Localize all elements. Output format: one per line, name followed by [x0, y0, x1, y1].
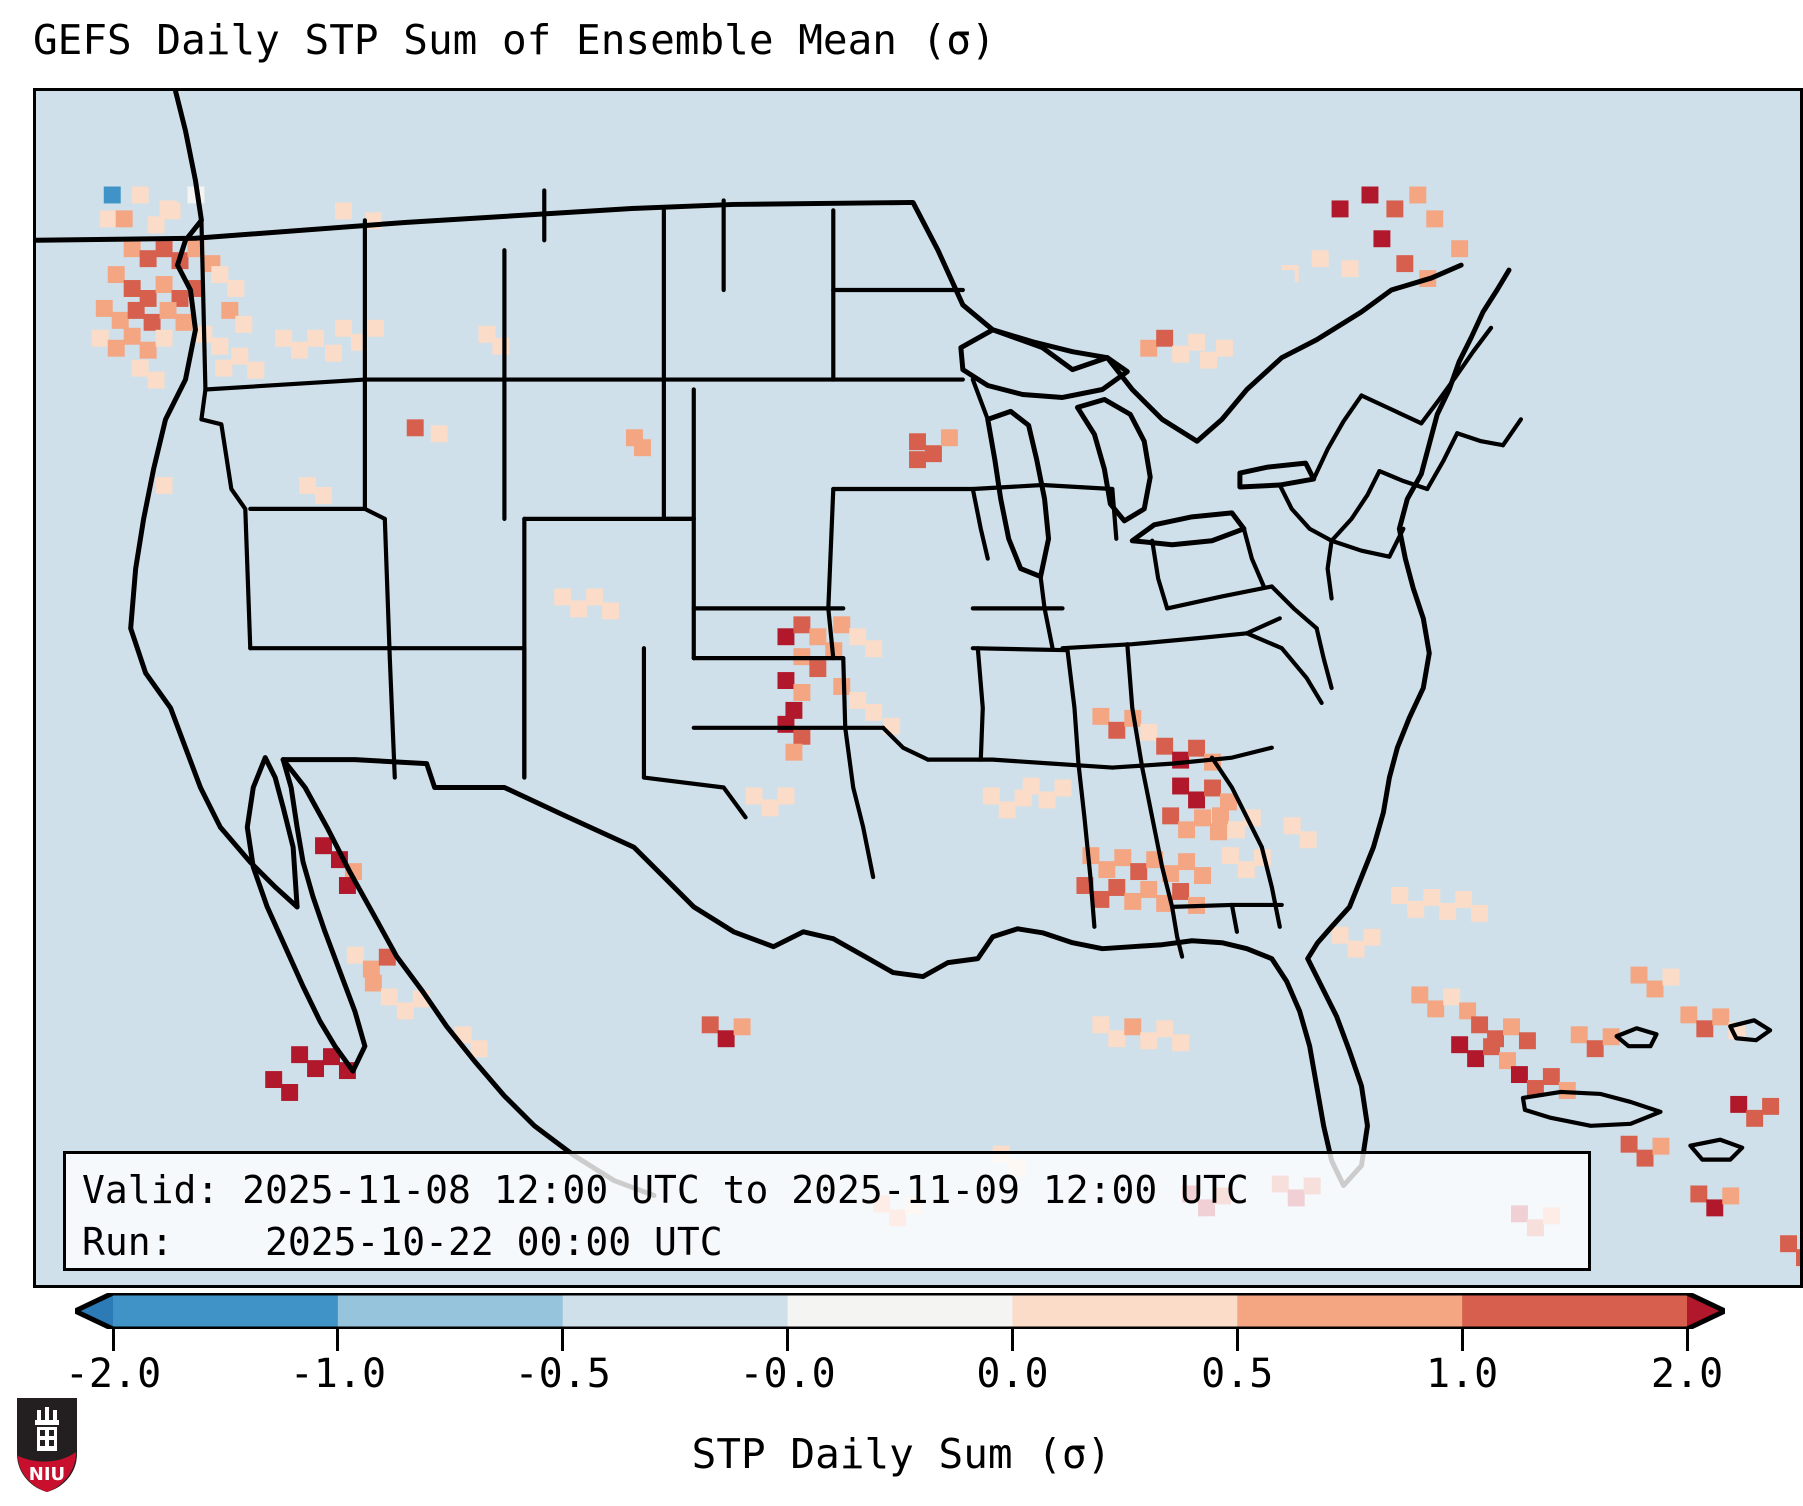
heatmap-cell	[1696, 1020, 1713, 1037]
map-panel: Valid: 2025-11-08 12:00 UTC to 2025-11-0…	[33, 88, 1803, 1288]
heatmap-cell	[381, 988, 398, 1005]
heatmap-cell	[1706, 1199, 1723, 1216]
heatmap-cell	[1320, 507, 1337, 524]
colorbar-tick	[1236, 1329, 1239, 1351]
heatmap-cell	[347, 947, 364, 964]
info-annotation-box: Valid: 2025-11-08 12:00 UTC to 2025-11-0…	[63, 1151, 1591, 1271]
heatmap-cell	[160, 302, 177, 319]
heatmap-cell	[941, 429, 958, 446]
heatmap-cell	[211, 266, 228, 283]
heatmap-cell	[1140, 881, 1157, 898]
heatmap-cell	[1637, 1150, 1654, 1167]
heatmap-cell	[1172, 1034, 1189, 1051]
heatmap-cell	[809, 628, 826, 645]
heatmap-cell	[1361, 187, 1378, 204]
heatmap-cell	[227, 280, 244, 297]
heatmap-cell	[1039, 791, 1056, 808]
heatmap-cell	[785, 744, 802, 761]
heatmap-cell	[1653, 1138, 1670, 1155]
heatmap-cell	[1503, 1018, 1520, 1035]
heatmap-cell	[1065, 469, 1082, 486]
heatmap-cell	[335, 202, 352, 219]
heatmap-cell	[367, 320, 384, 337]
heatmap-cell	[1049, 403, 1066, 420]
heatmap-cell	[1254, 509, 1271, 526]
heatmap-cell	[865, 640, 882, 657]
heatmap-cell	[793, 616, 810, 633]
figure-canvas: GEFS Daily STP Sum of Ensemble Mean (σ)	[0, 0, 1803, 1506]
heatmap-cell	[1098, 861, 1115, 878]
heatmap-cell	[299, 477, 316, 494]
heatmap-cell	[586, 589, 603, 606]
logo-tower	[35, 1407, 59, 1451]
heatmap-cell	[92, 330, 109, 347]
heatmap-cell	[235, 316, 252, 333]
heatmap-cell	[1426, 210, 1443, 227]
heatmap-cell	[104, 187, 121, 204]
heatmap-cell	[718, 1030, 735, 1047]
heatmap-cell	[1511, 1066, 1528, 1083]
heatmap-cell	[999, 360, 1016, 377]
heatmap-cell	[1322, 390, 1339, 407]
heatmap-cell	[1172, 883, 1189, 900]
heatmap-cell	[1543, 1068, 1560, 1085]
heatmap-cell	[275, 330, 292, 347]
heatmap-cell	[1210, 823, 1227, 840]
heatmap-cell	[1427, 1000, 1444, 1017]
heatmap-cell	[307, 1060, 324, 1077]
colorbar-swatches	[75, 1293, 1725, 1329]
heatmap-cell	[108, 266, 125, 283]
heatmap-cell	[1284, 817, 1301, 834]
heatmap-cell	[1238, 861, 1255, 878]
colorbar-segment	[788, 1293, 1013, 1329]
heatmap-cell	[148, 372, 165, 389]
colorbar-region: -2.0-1.0-0.5-0.00.00.51.02.0	[0, 1293, 1803, 1353]
run-time-line: Run: 2025-10-22 00:00 UTC	[82, 1216, 1572, 1268]
colorbar-tick	[336, 1329, 339, 1351]
heatmap-cell	[1278, 270, 1295, 287]
heatmap-cell	[1373, 230, 1390, 247]
heatmap-cell	[96, 300, 113, 317]
heatmap-cell	[315, 837, 332, 854]
heatmap-cell	[1188, 791, 1205, 808]
heatmap-cell	[1200, 352, 1217, 369]
heatmap-cell	[124, 240, 141, 257]
colorbar-segment	[1237, 1293, 1462, 1329]
heatmap-cell	[1124, 1018, 1141, 1035]
heatmap-cell	[554, 589, 571, 606]
heatmap-cell	[148, 216, 165, 233]
heatmap-cell	[1662, 969, 1679, 986]
heatmap-cell	[1216, 340, 1233, 357]
heatmap-cell	[1140, 1032, 1157, 1049]
colorbar-tick-label: -2.0	[65, 1351, 161, 1397]
heatmap-cell	[1228, 821, 1245, 838]
heatmap-cell	[116, 210, 133, 227]
heatmap-cell	[1120, 445, 1137, 462]
heatmap-cell	[1092, 1016, 1109, 1033]
heatmap-cell	[1156, 738, 1173, 755]
map-canvas	[36, 91, 1800, 1285]
heatmap-cell	[1409, 187, 1426, 204]
heatmap-cell	[1204, 780, 1221, 797]
heatmap-cell	[1631, 967, 1648, 984]
heatmap-cell	[1332, 927, 1349, 944]
heatmap-cell	[325, 345, 342, 362]
heatmap-cell	[1194, 867, 1211, 884]
heatmap-cell	[335, 320, 352, 337]
heatmap-cell	[1680, 1006, 1697, 1023]
colorbar-tick	[786, 1329, 789, 1351]
heatmap-cell	[1270, 523, 1287, 540]
heatmap-cell	[1332, 200, 1349, 217]
heatmap-cell	[849, 692, 866, 709]
heatmap-cell	[1519, 1032, 1536, 1049]
heatmap-cell	[634, 439, 651, 456]
heatmap-cell	[281, 1084, 298, 1101]
heatmap-cell	[176, 314, 193, 331]
heatmap-cell	[140, 250, 157, 267]
heatmap-cell	[132, 360, 149, 377]
heatmap-cell	[156, 276, 173, 293]
heatmap-cell	[1762, 1098, 1779, 1115]
heatmap-cell	[1108, 1030, 1125, 1047]
colorbar-segment	[338, 1293, 563, 1329]
heatmap-cell	[1156, 1020, 1173, 1037]
valid-time-line: Valid: 2025-11-08 12:00 UTC to 2025-11-0…	[82, 1164, 1572, 1216]
heatmap-cell	[124, 280, 141, 297]
heatmap-cell	[1367, 523, 1384, 540]
niu-logo: NIU	[14, 1396, 80, 1494]
heatmap-cell	[1467, 1050, 1484, 1067]
colorbar[interactable]: -2.0-1.0-0.5-0.00.00.51.02.0	[75, 1293, 1725, 1329]
heatmap-cell	[108, 340, 125, 357]
heatmap-cell	[1015, 789, 1032, 806]
heatmap-cell	[215, 360, 232, 377]
heatmap-cell	[1140, 340, 1157, 357]
colorbar-axis-label: STP Daily Sum (σ)	[0, 1430, 1803, 1478]
heatmap-cell	[777, 672, 794, 689]
heatmap-cell	[1712, 1008, 1729, 1025]
heatmap-cell	[156, 240, 173, 257]
heatmap-cell	[833, 616, 850, 633]
heatmap-cell	[1188, 740, 1205, 757]
heatmap-cell	[1342, 260, 1359, 277]
heatmap-cell	[833, 678, 850, 695]
heatmap-cell	[128, 302, 145, 319]
heatmap-cell	[144, 314, 161, 331]
heatmap-cell	[1130, 863, 1147, 880]
colorbar-tick-label: -0.0	[739, 1351, 835, 1397]
heatmap-cell	[1796, 1249, 1800, 1266]
heatmap-cell	[734, 1018, 751, 1035]
heatmap-cell	[1363, 929, 1380, 946]
heatmap-cell	[1172, 778, 1189, 795]
heatmap-cell	[1172, 346, 1189, 363]
heatmap-cell	[1451, 1036, 1468, 1053]
heatmap-cell	[1092, 708, 1109, 725]
heatmap-cell	[1055, 780, 1072, 797]
heatmap-cell	[1140, 724, 1157, 741]
heatmap-cell	[156, 330, 173, 347]
map-background	[36, 91, 1800, 1285]
heatmap-cell	[407, 419, 424, 436]
heatmap-cell	[1108, 722, 1125, 739]
colorbar-tick-label: -1.0	[290, 1351, 386, 1397]
heatmap-cell	[1194, 809, 1211, 826]
heatmap-cell	[1730, 1096, 1747, 1113]
heatmap-cell	[1407, 901, 1424, 918]
heatmap-cell	[1212, 807, 1229, 824]
colorbar-tick-label: 2.0	[1651, 1351, 1723, 1397]
heatmap-cell	[211, 338, 228, 355]
heatmap-cell	[1031, 362, 1048, 379]
heatmap-cell	[793, 728, 810, 745]
heatmap-cell	[1443, 988, 1460, 1005]
heatmap-cell	[602, 602, 619, 619]
heatmap-cell	[1396, 255, 1413, 272]
heatmap-cell	[112, 312, 129, 329]
colorbar-segment	[1012, 1293, 1237, 1329]
heatmap-cell	[1780, 1235, 1797, 1252]
heatmap-cell	[140, 342, 157, 359]
colorbar-tick	[1011, 1329, 1014, 1351]
heatmap-cell	[231, 348, 248, 365]
heatmap-cell	[777, 788, 794, 805]
heatmap-cell	[1423, 889, 1440, 906]
heatmap-cell	[702, 1016, 719, 1033]
heatmap-cell	[777, 628, 794, 645]
heatmap-cell	[164, 202, 181, 219]
heatmap-cell	[492, 338, 509, 355]
heatmap-cell	[1300, 831, 1317, 848]
heatmap-cell	[1471, 1016, 1488, 1033]
heatmap-cell	[291, 1046, 308, 1063]
heatmap-cell	[1178, 821, 1195, 838]
colorbar-tick-label: 0.0	[976, 1351, 1048, 1397]
colorbar-segment	[113, 1293, 338, 1329]
colorbar-tick	[112, 1329, 115, 1351]
heatmap-cell	[1092, 891, 1109, 908]
heatmap-cell	[1471, 905, 1488, 922]
heatmap-cell	[1587, 1040, 1604, 1057]
heatmap-cell	[291, 342, 308, 359]
heatmap-cell	[1439, 903, 1456, 920]
heatmap-cell	[132, 187, 149, 204]
heatmap-cell	[1188, 334, 1205, 351]
heatmap-cell	[1294, 284, 1311, 301]
heatmap-cell	[1722, 1187, 1739, 1204]
heatmap-cell	[793, 684, 810, 701]
heatmap-cell	[1386, 200, 1403, 217]
heatmap-cell	[100, 210, 117, 227]
logo-text: NIU	[29, 1464, 65, 1485]
colorbar-segment	[563, 1293, 788, 1329]
heatmap-cell	[925, 445, 942, 462]
heatmap-cell	[365, 975, 382, 992]
heatmap-cell	[1312, 250, 1329, 267]
heatmap-cell	[777, 716, 794, 733]
heatmap-cell	[1104, 431, 1121, 448]
heatmap-cell	[1114, 849, 1131, 866]
heatmap-cell	[397, 1002, 414, 1019]
heatmap-cell	[983, 788, 1000, 805]
colorbar-tick-label: 1.0	[1426, 1351, 1498, 1397]
heatmap-cell	[1690, 1186, 1707, 1203]
heatmap-cell	[849, 628, 866, 645]
heatmap-cell	[124, 328, 141, 345]
heatmap-cell	[570, 600, 587, 617]
heatmap-cell	[909, 433, 926, 450]
heatmap-cell	[431, 425, 448, 442]
heatmap-cell	[1647, 981, 1664, 998]
heatmap-cell	[307, 330, 324, 347]
heatmap-cell	[1162, 807, 1179, 824]
heatmap-cell	[1621, 1136, 1638, 1153]
heatmap-cell	[315, 487, 332, 504]
page-title: GEFS Daily STP Sum of Ensemble Mean (σ)	[33, 16, 996, 64]
heatmap-cell	[1015, 374, 1032, 391]
heatmap-cell	[1108, 879, 1125, 896]
heatmap-cell	[1411, 987, 1428, 1004]
heatmap-cell	[1391, 887, 1408, 904]
heatmap-cell	[999, 801, 1016, 818]
heatmap-cell	[1124, 893, 1141, 910]
colorbar-tick	[1686, 1329, 1689, 1351]
heatmap-cell	[1072, 429, 1089, 446]
heatmap-cell	[1451, 240, 1468, 257]
heatmap-cell	[1222, 847, 1239, 864]
heatmap-cell	[156, 477, 173, 494]
heatmap-cell	[865, 704, 882, 721]
heatmap-cell	[1455, 891, 1472, 908]
heatmap-cell	[762, 799, 779, 816]
heatmap-cell	[247, 362, 264, 379]
heatmap-cell	[265, 1071, 282, 1088]
heatmap-cell	[1156, 330, 1173, 347]
heatmap-cell	[1746, 1110, 1763, 1127]
heatmap-cell	[1483, 1038, 1500, 1055]
colorbar-tick-label: -0.5	[514, 1351, 610, 1397]
heatmap-cell	[809, 660, 826, 677]
colorbar-tick-label: 0.5	[1201, 1351, 1273, 1397]
heatmap-cell	[1178, 853, 1195, 870]
heatmap-cell	[1348, 941, 1365, 958]
heatmap-cell	[746, 788, 763, 805]
heatmap-cell	[909, 451, 926, 468]
heatmap-cell	[471, 1040, 488, 1057]
colorbar-segment	[1462, 1293, 1687, 1329]
heatmap-cell	[1571, 1026, 1588, 1043]
colorbar-tick	[1461, 1329, 1464, 1351]
colorbar-tick	[561, 1329, 564, 1351]
